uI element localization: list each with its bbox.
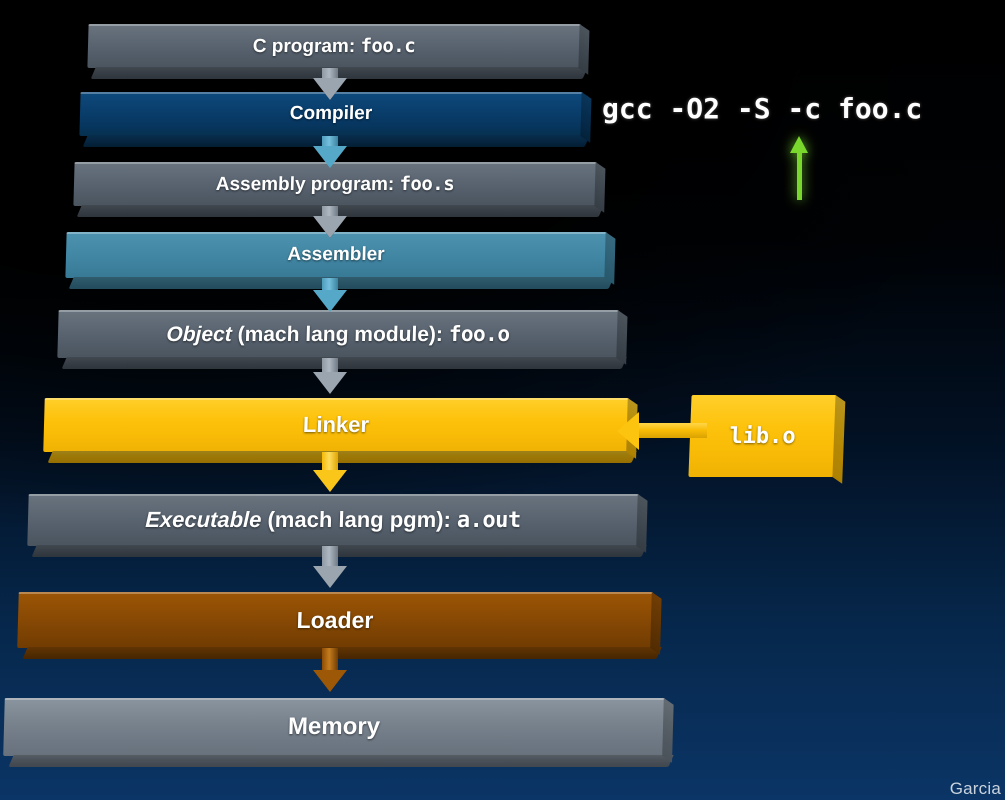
stage-label-linker: Linker [303,412,370,438]
arrow-executable-to-loader [313,546,347,588]
arrow-head [313,78,347,100]
slab-side-face [650,592,661,655]
arrow-head [313,470,347,492]
side-input-label-libo: lib.o [729,424,796,449]
stage-label-object: Object (mach lang module): foo.o [166,322,510,347]
arrow-head [313,290,347,312]
arrow-libo-to-linker [617,412,707,450]
stage-label-executable: Executable (mach lang pgm): a.out [145,507,521,533]
arrow-head [313,372,347,394]
slab-side-face [636,494,647,553]
arrow-linker-to-executable [313,452,347,492]
arrow-compiler-to-assembly [313,136,347,168]
arrow-head [313,670,347,692]
slab-side-face [662,698,673,763]
stage-box-loader[interactable]: Loader [17,592,653,648]
stage-label-compiler: Compiler [290,103,373,125]
stage-label-assembler: Assembler [287,244,385,266]
arrow-c-program-to-compiler [313,68,347,100]
stage-label-assembly-program: Assembly program: foo.s [215,173,454,196]
arrow-loader-to-memory [313,648,347,692]
stage-label-c-program: C program: foo.c [252,35,415,58]
gcc-command-text: gcc -O2 -S -c foo.c [602,92,922,125]
stage-box-assembler[interactable]: Assembler [65,232,606,278]
arrow-object-to-linker [313,358,347,394]
stage-label-loader: Loader [296,607,373,634]
stage-box-object[interactable]: Object (mach lang module): foo.o [57,310,618,358]
stage-box-assembly-program[interactable]: Assembly program: foo.s [73,162,596,206]
arrow-head [313,146,347,168]
slab-side-face [832,395,845,484]
arrow-head [617,412,639,450]
side-input-box-libo[interactable]: lib.o [688,395,836,477]
arrow-head [313,566,347,588]
slab-side-face [594,162,605,213]
slab-side-face [604,232,615,285]
slab-side-face [616,310,627,365]
slab-side-face [580,92,591,143]
slide-canvas: C program: foo.c Compiler Assembly progr… [0,0,1005,800]
stage-box-executable[interactable]: Executable (mach lang pgm): a.out [27,494,638,546]
arrow-assembly-to-assembler [313,206,347,238]
arrow-head [313,216,347,238]
stage-box-c-program[interactable]: C program: foo.c [87,24,580,68]
stage-box-memory[interactable]: Memory [3,698,665,756]
arrow-assembler-to-object [313,278,347,312]
arrow-shaft [637,423,707,438]
arrow-shaft [797,150,802,200]
stage-label-memory: Memory [288,713,381,741]
green-callout-arrow-icon [787,136,813,200]
stage-box-linker[interactable]: Linker [43,398,629,452]
footer-credit: Garcia [950,779,1001,799]
slab-side-face [578,24,589,75]
